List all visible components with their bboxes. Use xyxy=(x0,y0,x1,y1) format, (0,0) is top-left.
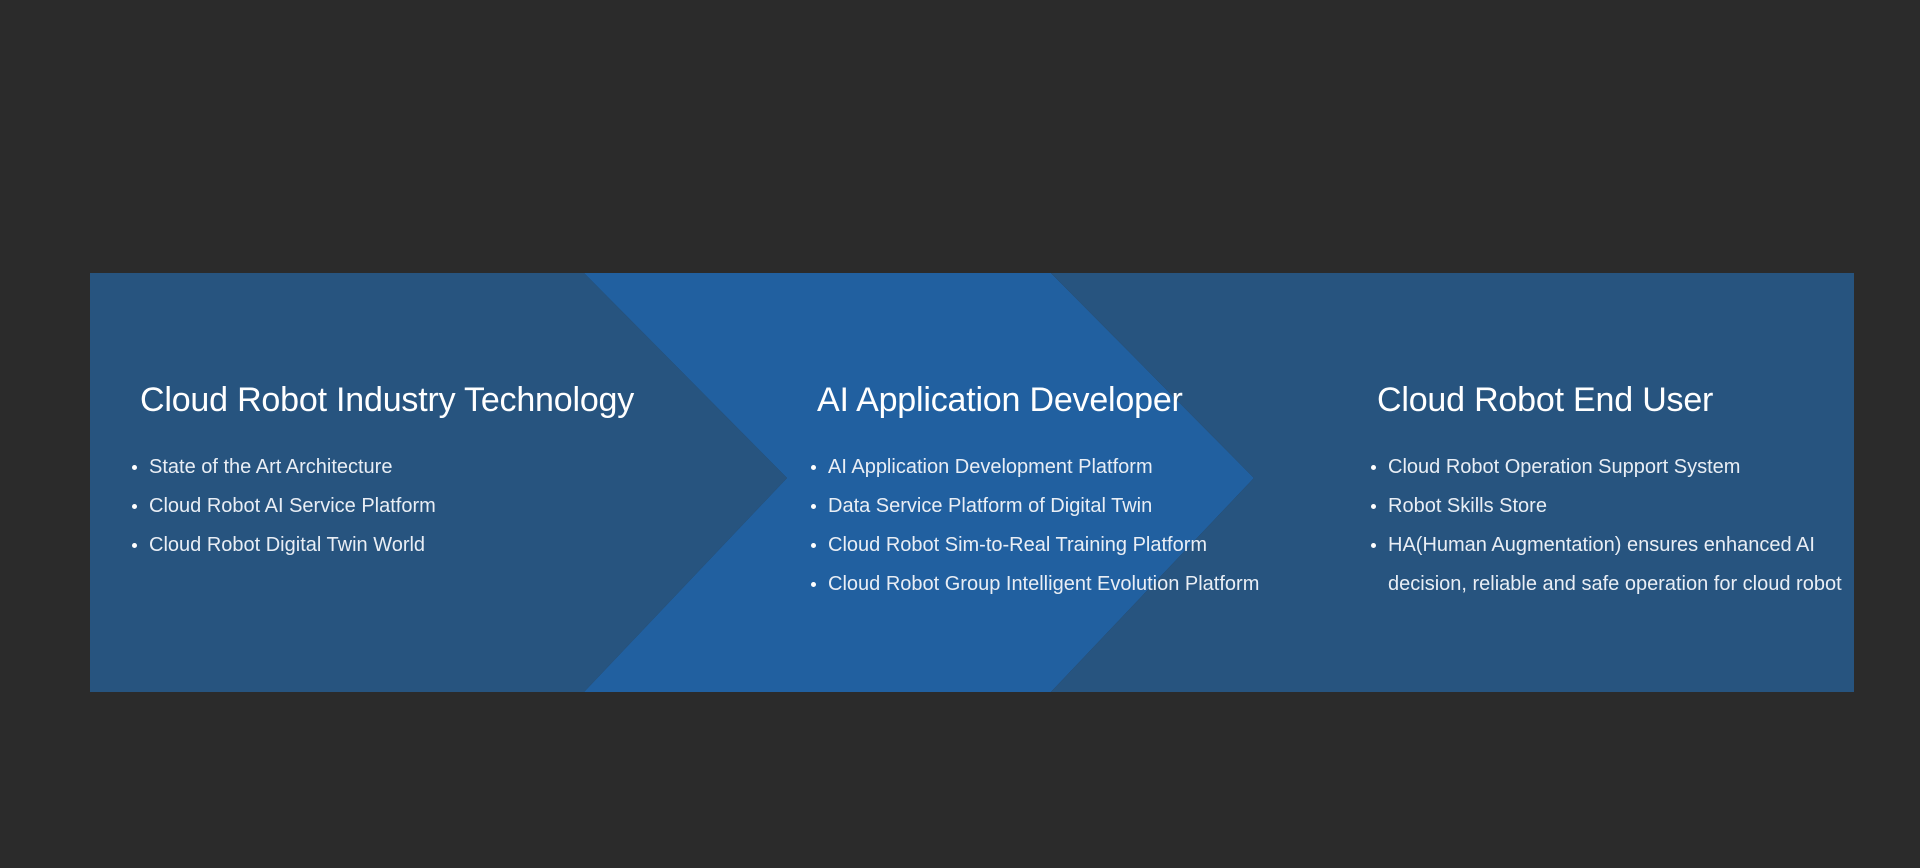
list-item-label: Cloud Robot Sim-to-Real Training Platfor… xyxy=(828,534,1207,556)
list-item: State of the Art Architecture xyxy=(128,448,768,487)
column-bullet-list: State of the Art Architecture Cloud Robo… xyxy=(128,448,768,565)
three-stage-chevron-banner: Cloud Robot Industry Technology State of… xyxy=(90,273,1854,692)
list-item-label: Cloud Robot Group Intelligent Evolution … xyxy=(828,573,1259,595)
column-bullet-list: AI Application Development Platform Data… xyxy=(807,448,1347,604)
list-item: Cloud Robot Operation Support System xyxy=(1367,448,1857,487)
list-item: HA(Human Augmentation) ensures enhanced … xyxy=(1367,526,1857,604)
list-item: Cloud Robot Group Intelligent Evolution … xyxy=(807,565,1347,604)
column-cloud-robot-end-user: Cloud Robot End User Cloud Robot Operati… xyxy=(1350,273,1854,692)
column-title: AI Application Developer xyxy=(817,381,1377,420)
list-item: Cloud Robot AI Service Platform xyxy=(128,487,768,526)
list-item-label: State of the Art Architecture xyxy=(149,456,392,478)
bullet-dot-icon xyxy=(1371,465,1376,470)
column-title: Cloud Robot End User xyxy=(1377,381,1881,420)
bullet-dot-icon xyxy=(811,465,816,470)
column-ai-application-developer: AI Application Developer AI Application … xyxy=(790,273,1350,692)
list-item-label: Robot Skills Store xyxy=(1388,495,1547,517)
list-item: Cloud Robot Sim-to-Real Training Platfor… xyxy=(807,526,1347,565)
bullet-dot-icon xyxy=(132,504,137,509)
list-item-label: Data Service Platform of Digital Twin xyxy=(828,495,1152,517)
list-item-label: Cloud Robot AI Service Platform xyxy=(149,495,436,517)
list-item-label: HA(Human Augmentation) ensures enhanced … xyxy=(1388,534,1842,595)
list-item: Robot Skills Store xyxy=(1367,487,1857,526)
list-item: Cloud Robot Digital Twin World xyxy=(128,526,768,565)
bullet-dot-icon xyxy=(1371,504,1376,509)
bullet-dot-icon xyxy=(132,465,137,470)
bullet-dot-icon xyxy=(811,543,816,548)
slide-canvas: Cloud Robot Industry Technology State of… xyxy=(0,0,1920,868)
list-item-label: Cloud Robot Digital Twin World xyxy=(149,534,425,556)
bullet-dot-icon xyxy=(811,504,816,509)
list-item: Data Service Platform of Digital Twin xyxy=(807,487,1347,526)
column-bullet-list: Cloud Robot Operation Support System Rob… xyxy=(1367,448,1857,604)
list-item-label: Cloud Robot Operation Support System xyxy=(1388,456,1740,478)
column-cloud-robot-industry-technology: Cloud Robot Industry Technology State of… xyxy=(90,273,790,692)
column-title: Cloud Robot Industry Technology xyxy=(140,381,840,420)
bullet-dot-icon xyxy=(1371,543,1376,548)
bullet-dot-icon xyxy=(132,543,137,548)
bullet-dot-icon xyxy=(811,582,816,587)
list-item-label: AI Application Development Platform xyxy=(828,456,1153,478)
list-item: AI Application Development Platform xyxy=(807,448,1347,487)
